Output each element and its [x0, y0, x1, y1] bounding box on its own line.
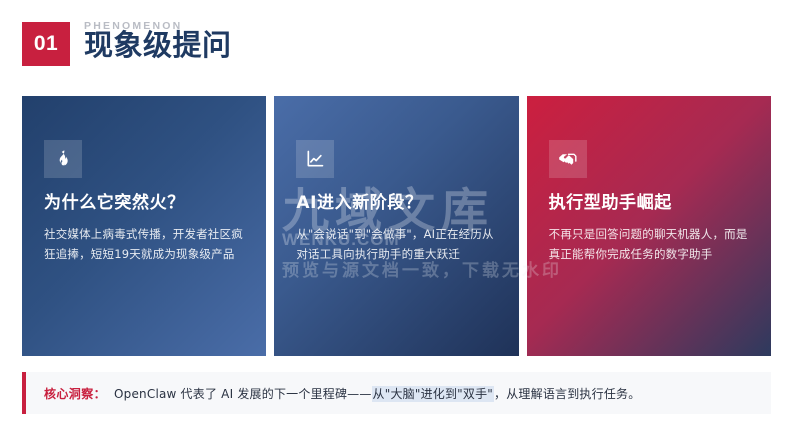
- handshake-icon: [549, 140, 587, 178]
- card-description: 从"会说话"到"会做事"，AI正在经历从对话工具向执行助手的重大跃迁: [296, 224, 498, 264]
- card-grid: 为什么它突然火？ 社交媒体上病毒式传播，开发者社区疯狂追捧，短短19天就成为现象…: [22, 96, 771, 356]
- card-title: AI进入新阶段？: [296, 192, 498, 214]
- insight-label: 核心洞察：: [44, 385, 106, 402]
- card-description: 社交媒体上病毒式传播，开发者社区疯狂追捧，短短19天就成为现象级产品: [44, 224, 246, 264]
- page-title: 现象级提问: [84, 29, 232, 61]
- card-content: AI进入新阶段？ 从"会说话"到"会做事"，AI正在经历从对话工具向执行助手的重…: [296, 140, 498, 264]
- card-content: 执行型助手崛起 不再只是回答问题的聊天机器人，而是真正能帮你完成任务的数字助手: [549, 140, 751, 264]
- card-why-hot[interactable]: 为什么它突然火？ 社交媒体上病毒式传播，开发者社区疯狂追捧，短短19天就成为现象…: [22, 96, 266, 356]
- card-executive-assistant[interactable]: 执行型助手崛起 不再只是回答问题的聊天机器人，而是真正能帮你完成任务的数字助手: [527, 96, 771, 356]
- card-title: 执行型助手崛起: [549, 192, 751, 214]
- insight-highlight: 从"大脑"进化到"双手": [372, 386, 494, 402]
- fire-icon: [44, 140, 82, 178]
- key-insight-bar: 核心洞察： OpenClaw 代表了 AI 发展的下一个里程碑——从"大脑"进化…: [22, 372, 771, 414]
- line-chart-icon: [296, 140, 334, 178]
- insight-text-part1: OpenClaw 代表了 AI 发展的下一个里程碑——: [114, 387, 372, 401]
- insight-text: OpenClaw 代表了 AI 发展的下一个里程碑——从"大脑"进化到"双手"，…: [114, 385, 640, 402]
- card-title: 为什么它突然火？: [44, 192, 246, 214]
- section-number-badge: 01: [22, 22, 70, 66]
- card-content: 为什么它突然火？ 社交媒体上病毒式传播，开发者社区疯狂追捧，短短19天就成为现象…: [44, 140, 246, 264]
- section-header: 01 PHENOMENON 现象级提问: [22, 22, 232, 66]
- card-ai-new-stage[interactable]: AI进入新阶段？ 从"会说话"到"会做事"，AI正在经历从对话工具向执行助手的重…: [274, 96, 518, 356]
- header-text-group: PHENOMENON 现象级提问: [84, 20, 232, 61]
- card-description: 不再只是回答问题的聊天机器人，而是真正能帮你完成任务的数字助手: [549, 224, 751, 264]
- insight-text-part2: ，从理解语言到执行任务。: [494, 387, 640, 401]
